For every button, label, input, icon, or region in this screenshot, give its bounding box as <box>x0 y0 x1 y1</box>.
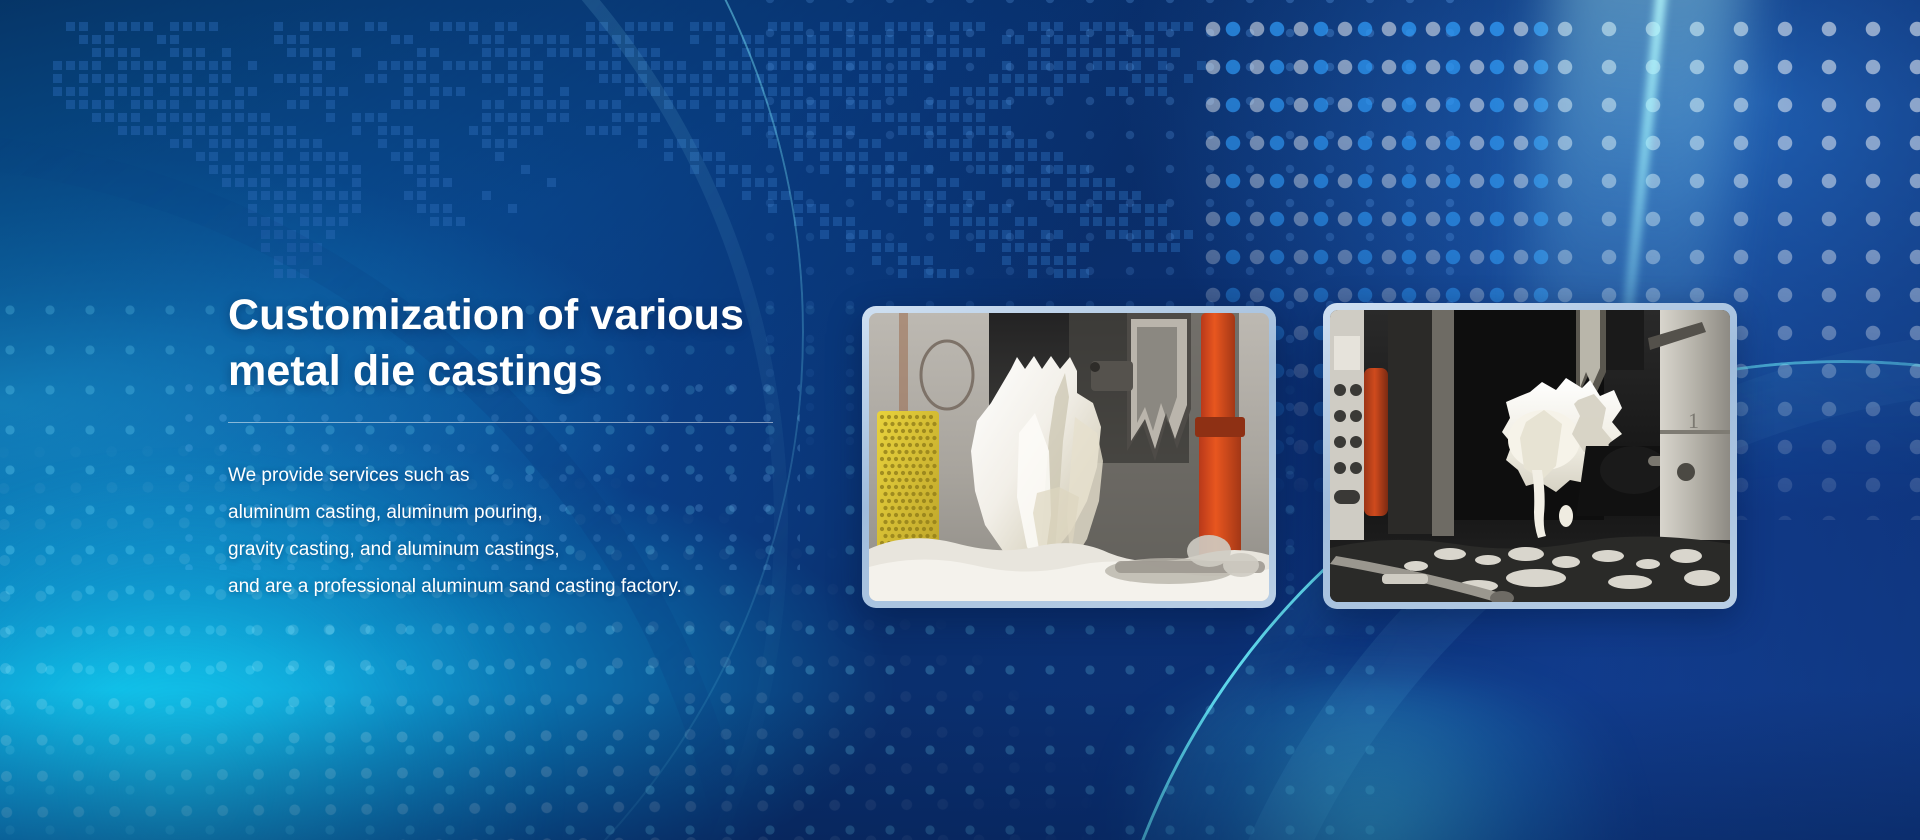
aluminum-sand-casting-mold-photo <box>869 313 1269 601</box>
svg-text:1: 1 <box>1688 408 1699 433</box>
photo-frame-right[interactable]: 1 <box>1323 303 1737 609</box>
photo-frame-left[interactable] <box>862 306 1276 608</box>
hero-banner: Customization of various metal die casti… <box>0 0 1920 840</box>
page-title: Customization of various metal die casti… <box>228 288 808 400</box>
headline-line-2: metal die castings <box>228 347 603 395</box>
bottom-vignette <box>0 690 1920 840</box>
headline-line-1: Customization of various <box>228 291 744 339</box>
aluminum-pouring-machine-photo: 1 <box>1330 310 1730 602</box>
title-divider <box>228 422 773 423</box>
